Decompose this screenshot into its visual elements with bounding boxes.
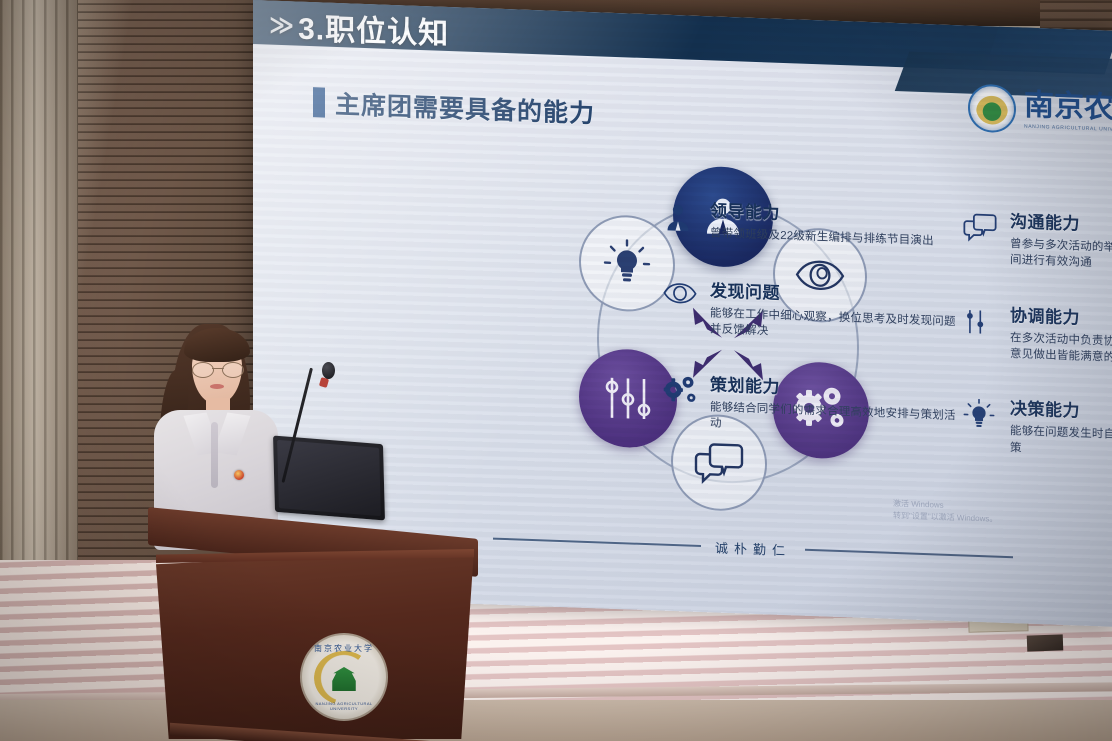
university-name-block: 南京农业 NANJING AGRICULTURAL UNIVERSITY [1024,90,1112,133]
sliders-icon [602,373,654,423]
bullet-item: 决策能力 能够在问题发生时自主权衡及时做出决策 [963,393,1112,464]
footer-motto: 诚朴勤仁 [715,537,791,559]
footer-line-left [493,538,701,547]
bullet-desc: 曾带领班级及22级新生编排与排练节目演出 [710,225,960,250]
slide-heading: 主席团需要具备的能力 [313,84,595,130]
eye-icon [663,281,701,324]
bullet-title: 策划能力 [710,370,963,404]
bullet-desc: 能够在工作中细心观察，换位思考及时发现问题并反馈解决 [710,305,960,347]
university-seal-icon [968,84,1016,134]
bullet-item: 沟通能力 曾参与多次活动的举办，能够与同学之间进行有效沟通 [963,205,1112,276]
glasses-lens-right [222,362,244,378]
person-icon [663,201,701,244]
podium: 南京农业大学 NANJING AGRICULTURAL UNIVERSITY [148,505,478,741]
sliders-icon [963,305,1001,348]
slide-title: ≫ 3.职位认知 [269,3,449,53]
bullet-desc: 在多次活动中负责协调工作，结合双方意见做出皆能满意的结果 [1010,330,1112,370]
wall-outlet-plate [1027,634,1064,651]
bullet-text: 策划能力 能够结合同学们的需求合理高效地安排与策划活动 [710,370,963,441]
gears-icon [663,374,701,417]
podium-university-seal-icon: 南京农业大学 NANJING AGRICULTURAL UNIVERSITY [300,633,388,721]
slide-heading-text: 主席团需要具备的能力 [335,85,595,130]
bullet-column-right: 沟通能力 曾参与多次活动的举办，能够与同学之间进行有效沟通 协调能力 在多次活动… [963,205,1112,495]
bullet-desc: 能够结合同学们的需求合理高效地安排与策划活动 [710,399,960,441]
university-name-cn: 南京农业 [1024,90,1112,124]
glasses-lens-left [192,362,214,378]
bullet-text: 沟通能力 曾参与多次活动的举办，能够与同学之间进行有效沟通 [1010,207,1112,276]
bullet-text: 领导能力 曾带领班级及22级新生编排与排练节目演出 [710,196,963,253]
university-logo: 南京农业 NANJING AGRICULTURAL UNIVERSITY [968,78,1112,145]
seal-inner-emblem [976,92,1008,125]
microphone-head-icon [322,362,335,379]
chevrons-icon: ≫ [269,10,290,40]
bullet-title: 领导能力 [710,196,963,230]
bullet-item: 领导能力 曾带领班级及22级新生编排与排练节目演出 [663,195,963,254]
bullet-title: 决策能力 [1010,394,1112,426]
bullet-text: 发现问题 能够在工作中细心观察，换位思考及时发现问题并反馈解决 [710,276,963,347]
slide-footer: 诚朴勤仁 [493,529,1013,568]
bullet-text: 决策能力 能够在问题发生时自主权衡及时做出决策 [1010,394,1112,463]
bullet-desc: 能够在问题发生时自主权衡及时做出决策 [1010,423,1112,463]
glasses-icon [192,362,244,376]
heading-accent-bar [313,87,325,117]
watermark-line-2: 转到"设置"以激活 Windows。 [893,510,997,526]
lapel-badge-pin [234,470,244,480]
chat-bubble-icon [963,211,1001,254]
bullet-title: 协调能力 [1010,301,1112,333]
podium-seal-en: NANJING AGRICULTURAL UNIVERSITY [302,701,386,711]
bullet-desc: 曾参与多次活动的举办，能够与同学之间进行有效沟通 [1010,236,1112,276]
bullet-item: 策划能力 能够结合同学们的需求合理高效地安排与策划活动 [663,368,963,440]
university-name-en: NANJING AGRICULTURAL UNIVERSITY [1024,123,1112,133]
footer-line-right [805,549,1013,558]
lightbulb-icon [963,399,1001,442]
bullet-title: 沟通能力 [1010,207,1112,239]
lips [210,384,224,389]
lecture-hall-photo: 安全出口指示 ≫ 3.职位认知 南京农业 NANJING AGRICULTURA… [0,0,1112,741]
bullet-column-middle: 领导能力 曾带领班级及22级新生编排与排练节目演出 发现问题 能够在工作中细心观… [663,195,963,473]
lightbulb-icon [603,239,651,289]
neck-tie-ribbon [211,422,218,488]
slide-title-text: 3.职位认知 [298,4,449,53]
bullet-text: 协调能力 在多次活动中负责协调工作，结合双方意见做出皆能满意的结果 [1010,301,1112,370]
bullet-title: 发现问题 [710,276,963,310]
windows-activation-watermark: 激活 Windows 转到"设置"以激活 Windows。 [893,498,997,526]
bullet-item: 发现问题 能够在工作中细心观察，换位思考及时发现问题并反馈解决 [663,275,963,347]
bullet-item: 协调能力 在多次活动中负责协调工作，结合双方意见做出皆能满意的结果 [963,299,1112,370]
